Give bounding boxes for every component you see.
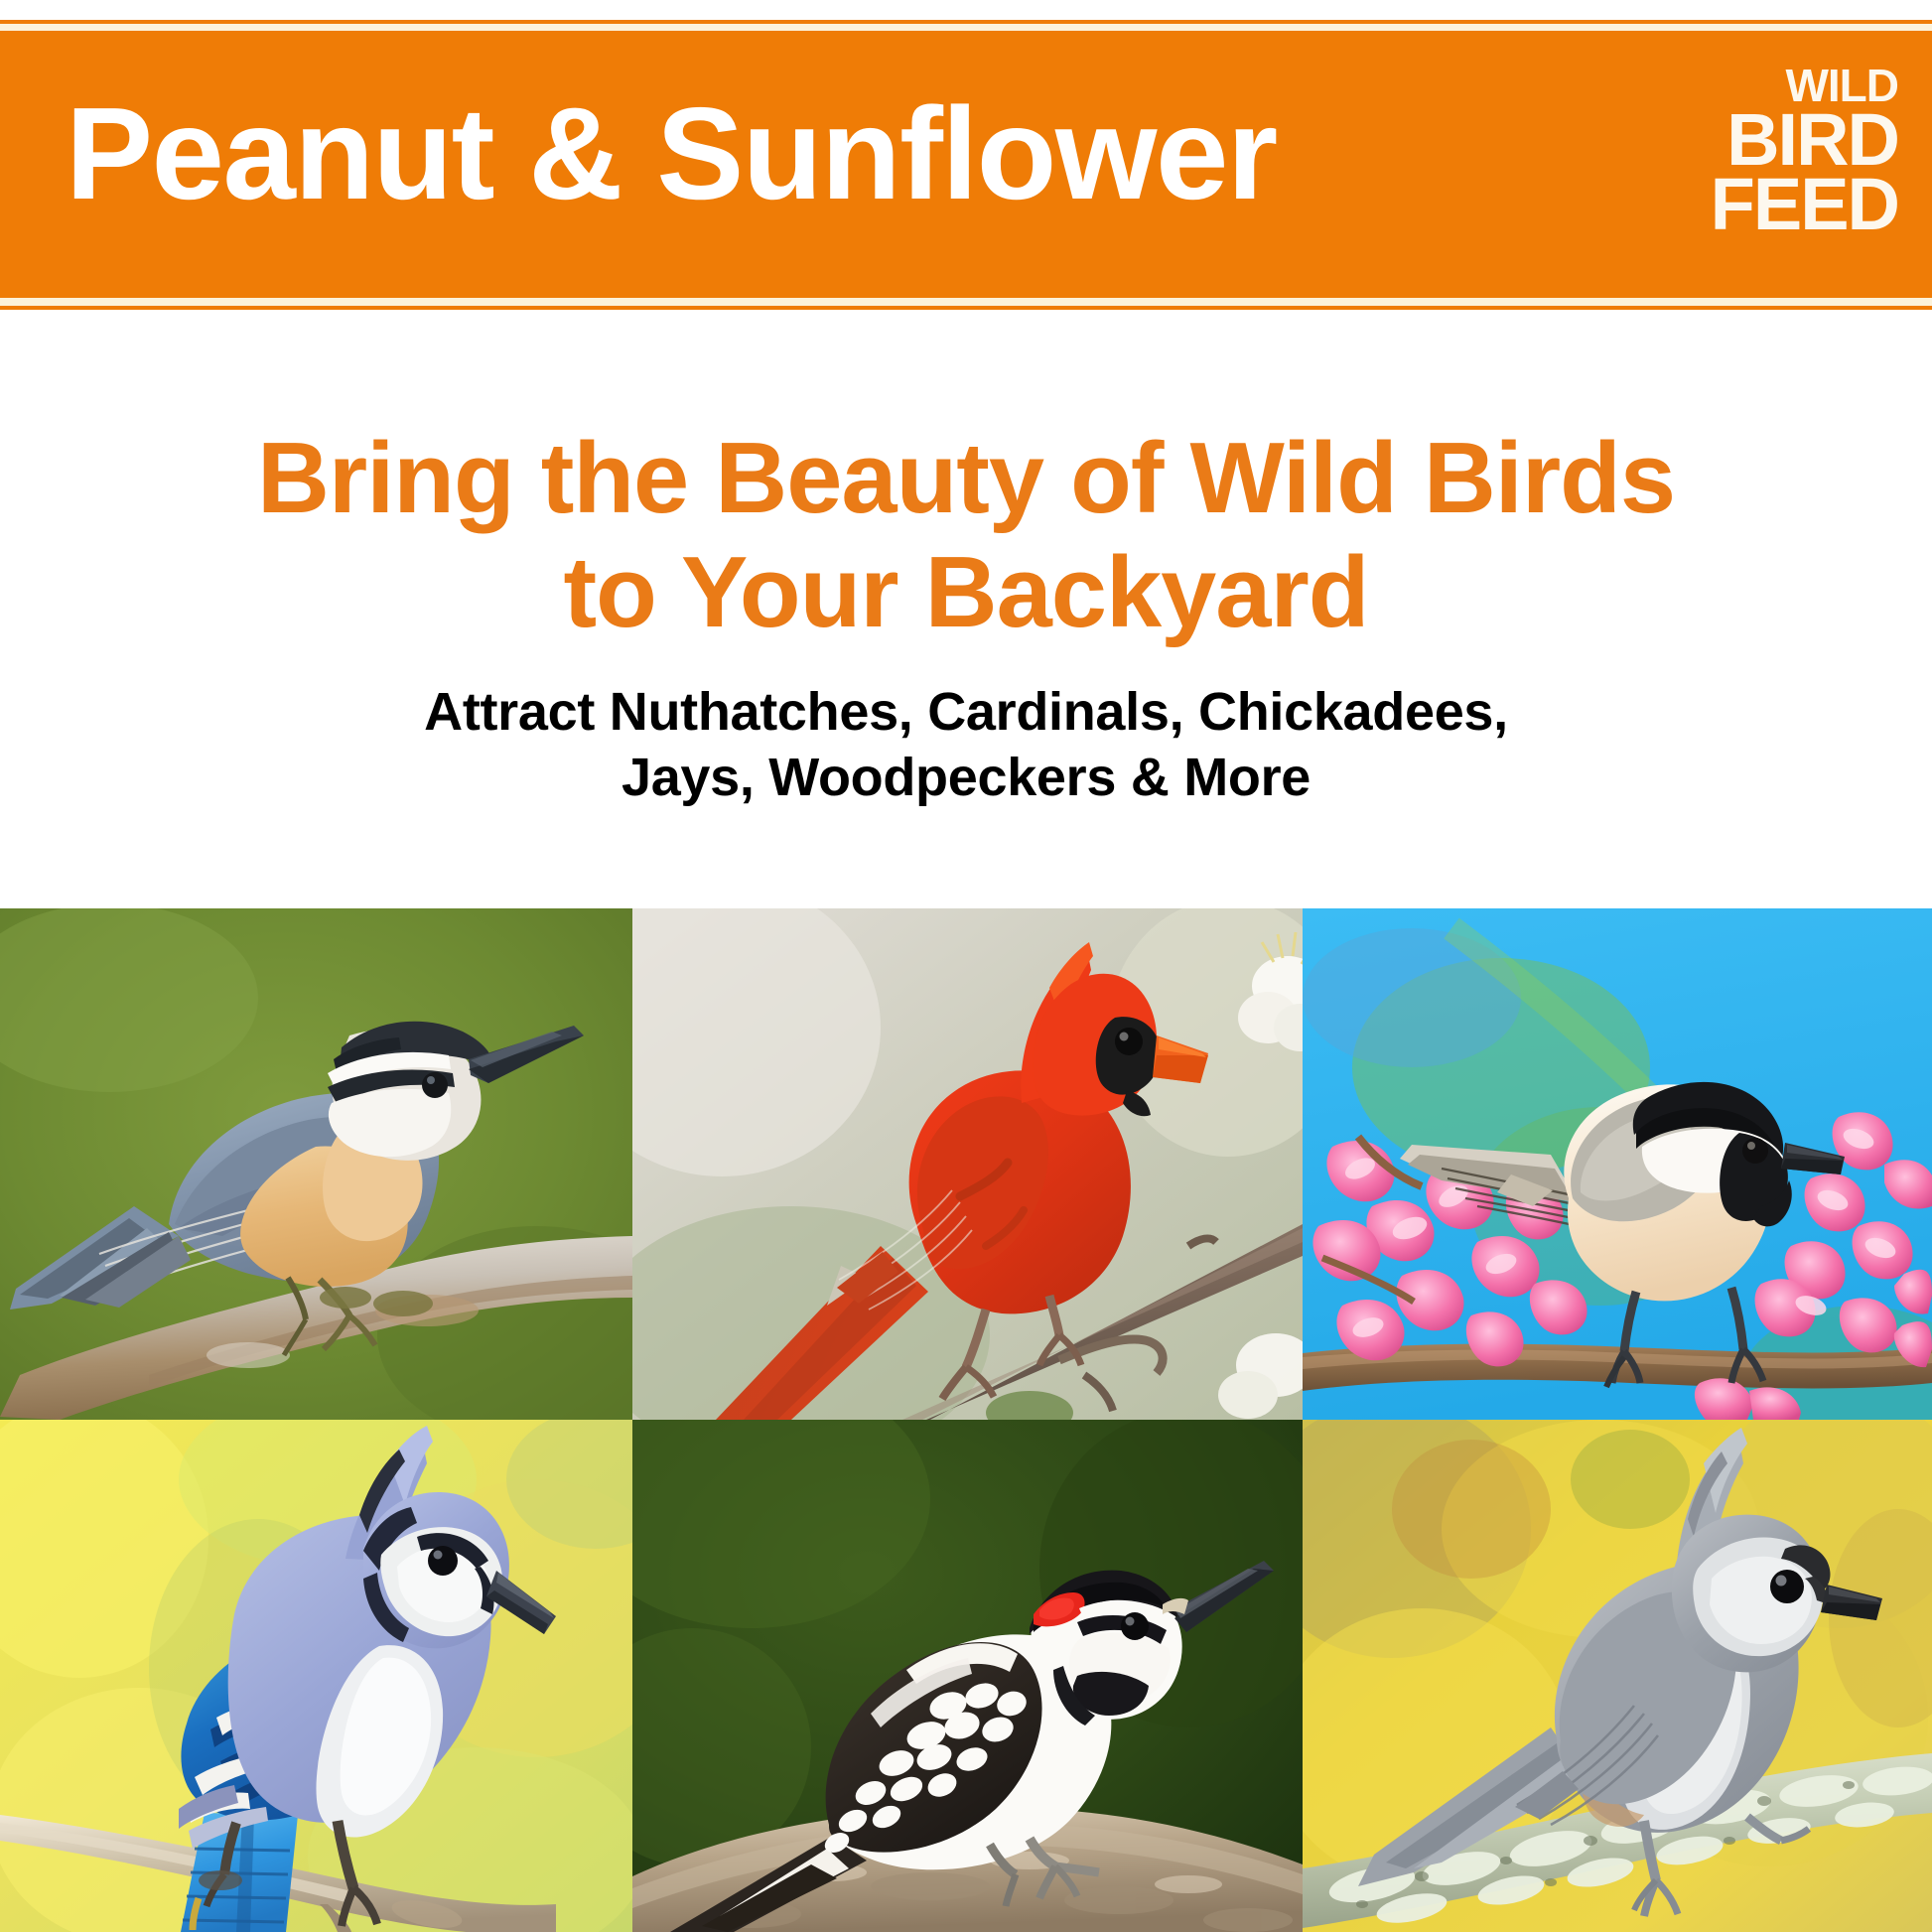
product-title: Peanut & Sunflower (66, 88, 1277, 219)
header-banner: Peanut & Sunflower WILD BIRD FEED (0, 0, 1932, 310)
header-top-cream-stripe (0, 24, 1932, 31)
photo-cell-downy-woodpecker (632, 1420, 1303, 1932)
photo-cell-northern-cardinal (632, 908, 1303, 1420)
brand-logo-line-feed: FEED (1670, 173, 1898, 236)
subheadline: Attract Nuthatches, Cardinals, Chickadee… (424, 680, 1508, 811)
photo-cell-black-capped-chickadee (1303, 908, 1932, 1420)
header-top-white-stripe (0, 0, 1932, 20)
bird-photo-grid (0, 908, 1932, 1932)
photo-cell-blue-jay (0, 1420, 632, 1932)
headline-line-2: to Your Backyard (257, 536, 1675, 650)
brand-logo-line-bird: BIRD (1670, 108, 1898, 172)
product-infographic: Peanut & Sunflower WILD BIRD FEED Bring … (0, 0, 1932, 1932)
subheadline-line-2: Jays, Woodpeckers & More (424, 746, 1508, 811)
marketing-copy-block: Bring the Beauty of Wild Birds to Your B… (0, 310, 1932, 908)
brand-logo: WILD BIRD FEED (1670, 67, 1898, 236)
subheadline-line-1: Attract Nuthatches, Cardinals, Chickadee… (424, 680, 1508, 746)
header-bottom-cream-stripe (0, 298, 1932, 306)
headline-line-1: Bring the Beauty of Wild Birds (257, 422, 1675, 536)
header-inner: Peanut & Sunflower WILD BIRD FEED (0, 31, 1932, 298)
photo-cell-tufted-titmouse (1303, 1420, 1932, 1932)
headline: Bring the Beauty of Wild Birds to Your B… (257, 422, 1675, 650)
photo-cell-red-breasted-nuthatch (0, 908, 632, 1420)
